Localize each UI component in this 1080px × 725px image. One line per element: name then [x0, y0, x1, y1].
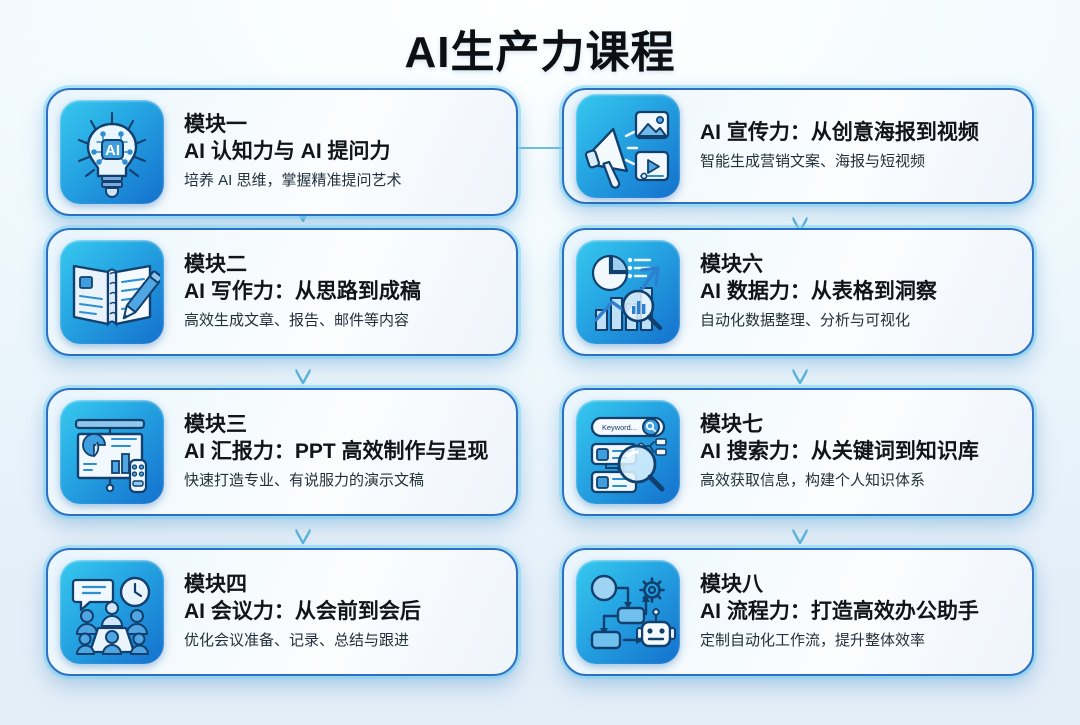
module-7-label: 模块七	[700, 413, 1018, 438]
module-5-text: AI 宣传力：从创意海报到视频 智能生成营销文案、海报与短视频	[680, 120, 1018, 172]
module-4-label: 模块四	[184, 573, 502, 598]
page-title: AI生产力课程	[0, 16, 1080, 80]
open-book-pen-icon	[60, 240, 164, 344]
module-1-text: 模块一 AI 认知力与 AI 提问力 培养 AI 思维，掌握精准提问艺术	[164, 113, 502, 192]
module-card-3[interactable]: 模块三 AI 汇报力：PPT 高效制作与呈现 快速打造专业、有说服力的演示文稿	[46, 388, 518, 516]
module-card-6[interactable]: 模块六 AI 数据力：从表格到洞察 自动化数据整理、分析与可视化	[562, 228, 1034, 356]
search-knowledge-base-icon: Keyword...	[576, 400, 680, 504]
presentation-board-icon	[60, 400, 164, 504]
module-6-desc: 自动化数据整理、分析与可视化	[700, 310, 1018, 331]
module-3-label: 模块三	[184, 413, 502, 438]
module-5-desc: 智能生成营销文案、海报与短视频	[700, 151, 1018, 172]
module-7-text: 模块七 AI 搜索力：从关键词到知识库 高效获取信息，构建个人知识体系	[680, 413, 1018, 492]
course-roadmap-poster: AI生产力课程	[0, 0, 1080, 725]
lightbulb-ai-icon: AI	[60, 100, 164, 204]
module-2-title: AI 写作力：从思路到成稿	[184, 279, 502, 306]
module-6-text: 模块六 AI 数据力：从表格到洞察 自动化数据整理、分析与可视化	[680, 253, 1018, 332]
module-card-1[interactable]: AI 模块一 AI 认知力与 AI 提问力 培养 AI 思维，掌握精准提问艺术	[46, 88, 518, 216]
megaphone-image-video-icon	[576, 94, 680, 198]
module-1-title: AI 认知力与 AI 提问力	[184, 139, 502, 166]
module-3-desc: 快速打造专业、有说服力的演示文稿	[184, 470, 502, 491]
module-8-desc: 定制自动化工作流，提升整体效率	[700, 630, 1018, 651]
module-6-title: AI 数据力：从表格到洞察	[700, 279, 1018, 306]
module-5-title: AI 宣传力：从创意海报到视频	[700, 120, 1018, 147]
module-2-desc: 高效生成文章、报告、邮件等内容	[184, 310, 502, 331]
module-2-text: 模块二 AI 写作力：从思路到成稿 高效生成文章、报告、邮件等内容	[164, 253, 502, 332]
module-6-label: 模块六	[700, 253, 1018, 278]
meeting-people-clock-icon	[60, 560, 164, 664]
module-7-title: AI 搜索力：从关键词到知识库	[700, 439, 1018, 466]
module-8-title: AI 流程力：打造高效办公助手	[700, 599, 1018, 626]
module-8-label: 模块八	[700, 573, 1018, 598]
module-3-title: AI 汇报力：PPT 高效制作与呈现	[184, 439, 502, 466]
module-8-text: 模块八 AI 流程力：打造高效办公助手 定制自动化工作流，提升整体效率	[680, 573, 1018, 652]
icon-label-ai: AI	[105, 142, 120, 159]
module-2-label: 模块二	[184, 253, 502, 278]
chart-growth-magnifier-icon	[576, 240, 680, 344]
module-1-desc: 培养 AI 思维，掌握精准提问艺术	[184, 170, 502, 191]
module-4-text: 模块四 AI 会议力：从会前到会后 优化会议准备、记录、总结与跟进	[164, 573, 502, 652]
module-card-8[interactable]: 模块八 AI 流程力：打造高效办公助手 定制自动化工作流，提升整体效率	[562, 548, 1034, 676]
icon-label-keyword: Keyword...	[602, 423, 637, 432]
module-card-4[interactable]: 模块四 AI 会议力：从会前到会后 优化会议准备、记录、总结与跟进	[46, 548, 518, 676]
module-7-desc: 高效获取信息，构建个人知识体系	[700, 470, 1018, 491]
module-4-desc: 优化会议准备、记录、总结与跟进	[184, 630, 502, 651]
workflow-robot-gear-icon	[576, 560, 680, 664]
module-card-7[interactable]: Keyword...	[562, 388, 1034, 516]
module-1-label: 模块一	[184, 113, 502, 138]
module-card-5[interactable]: AI 宣传力：从创意海报到视频 智能生成营销文案、海报与短视频	[562, 88, 1034, 204]
module-3-text: 模块三 AI 汇报力：PPT 高效制作与呈现 快速打造专业、有说服力的演示文稿	[164, 413, 502, 492]
module-4-title: AI 会议力：从会前到会后	[184, 599, 502, 626]
module-card-2[interactable]: 模块二 AI 写作力：从思路到成稿 高效生成文章、报告、邮件等内容	[46, 228, 518, 356]
